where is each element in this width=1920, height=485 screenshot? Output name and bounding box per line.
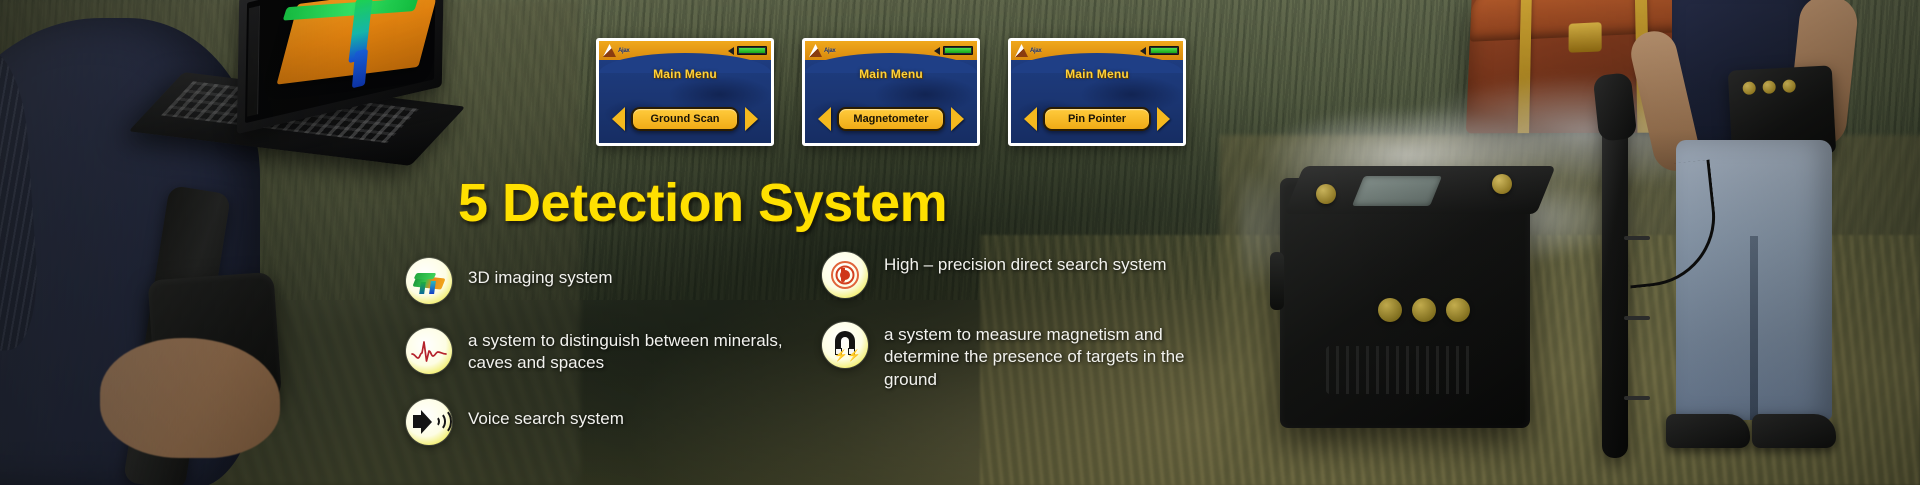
screen-title: Main Menu	[805, 67, 977, 81]
logo-mark-icon	[603, 44, 616, 57]
feature-item: 3D imaging system	[406, 258, 806, 304]
mode-button[interactable]: Ground Scan	[631, 107, 739, 131]
next-mode-arrow-icon[interactable]	[951, 107, 964, 131]
feature-column-left: 3D imaging system a system to distinguis…	[406, 258, 806, 469]
logo-mark-icon	[1015, 44, 1028, 57]
previous-mode-arrow-icon[interactable]	[818, 107, 831, 131]
mode-selector: Ground Scan	[599, 107, 771, 131]
previous-mode-arrow-icon[interactable]	[612, 107, 625, 131]
feature-label: High – precision direct search system	[884, 252, 1167, 276]
logo-text: Ajax	[618, 48, 629, 54]
logo-text: Ajax	[824, 48, 835, 54]
brand-logo: Ajax	[809, 44, 845, 58]
screen-status-bar: Ajax	[1011, 41, 1183, 60]
screen-status-bar: Ajax	[805, 41, 977, 60]
device-screen-ground-scan[interactable]: Ajax Main Menu Ground Scan	[596, 38, 774, 146]
status-indicators	[934, 46, 973, 55]
feature-label: Voice search system	[468, 399, 624, 430]
waveform-pulse-icon	[406, 328, 452, 374]
mode-button[interactable]: Pin Pointer	[1043, 107, 1151, 131]
feature-label: a system to distinguish between minerals…	[468, 328, 806, 375]
radar-signal-icon	[822, 252, 868, 298]
feature-item: a system to distinguish between minerals…	[406, 328, 806, 375]
speaker-icon	[1140, 47, 1146, 55]
3d-terrain-icon	[406, 258, 452, 304]
feature-column-right: High – precision direct search system ⚡⚡…	[822, 252, 1242, 415]
previous-mode-arrow-icon[interactable]	[1024, 107, 1037, 131]
next-mode-arrow-icon[interactable]	[745, 107, 758, 131]
device-screen-gallery: Ajax Main Menu Ground Scan Ajax	[596, 38, 1186, 146]
brand-logo: Ajax	[603, 44, 639, 58]
brand-logo: Ajax	[1015, 44, 1051, 58]
device-screen-pin-pointer[interactable]: Ajax Main Menu Pin Pointer	[1008, 38, 1186, 146]
battery-icon	[943, 46, 973, 55]
status-indicators	[728, 46, 767, 55]
battery-icon	[1149, 46, 1179, 55]
banner-headline: 5 Detection System	[458, 172, 947, 234]
status-indicators	[1140, 46, 1179, 55]
screen-title: Main Menu	[599, 67, 771, 81]
battery-icon	[737, 46, 767, 55]
logo-mark-icon	[809, 44, 822, 57]
feature-item: High – precision direct search system	[822, 252, 1242, 298]
magnet-icon: ⚡⚡	[822, 322, 868, 368]
feature-item: ⚡⚡ a system to measure magnetism and det…	[822, 322, 1242, 391]
waveform-path	[411, 338, 447, 364]
mode-button[interactable]: Magnetometer	[837, 107, 945, 131]
mode-selector: Pin Pointer	[1011, 107, 1183, 131]
device-screen-magnetometer[interactable]: Ajax Main Menu Magnetometer	[802, 38, 980, 146]
mode-selector: Magnetometer	[805, 107, 977, 131]
product-banner: Ajax Main Menu Ground Scan Ajax	[0, 0, 1920, 485]
speaker-icon	[406, 399, 452, 445]
screen-title: Main Menu	[1011, 67, 1183, 81]
feature-label: 3D imaging system	[468, 258, 613, 289]
next-mode-arrow-icon[interactable]	[1157, 107, 1170, 131]
feature-label: a system to measure magnetism and determ…	[884, 322, 1242, 391]
logo-text: Ajax	[1030, 48, 1041, 54]
screen-status-bar: Ajax	[599, 41, 771, 60]
speaker-icon	[728, 47, 734, 55]
speaker-icon	[934, 47, 940, 55]
feature-item: Voice search system	[406, 399, 806, 445]
